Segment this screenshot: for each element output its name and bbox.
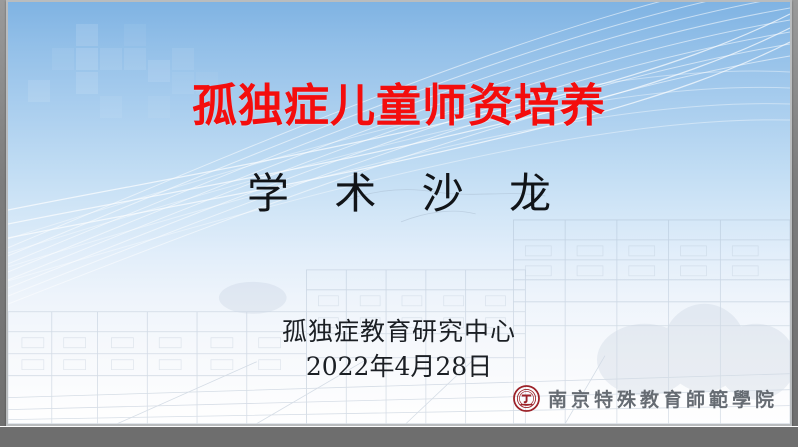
presentation-slide-viewer: 孤独症儿童师资培养 学 术 沙 龙 孤独症教育研究中心 2022年4月28日 南… — [0, 0, 798, 447]
university-name-text: 南京特殊教育師範學院 — [548, 385, 778, 412]
mosaic-square-icon — [124, 24, 146, 46]
mosaic-square-icon — [172, 48, 194, 70]
slide-title-subtitle: 学 术 沙 龙 — [8, 160, 790, 221]
mosaic-square-icon — [52, 48, 74, 70]
university-logo-lockup: 南京特殊教育師範學院 — [513, 385, 778, 412]
mosaic-square-icon — [76, 48, 98, 70]
mosaic-square-icon — [76, 24, 98, 46]
mosaic-square-icon — [100, 48, 122, 70]
slide-frame: 孤独症儿童师资培养 学 术 沙 龙 孤独症教育研究中心 2022年4月28日 南… — [6, 0, 792, 426]
slide-canvas: 孤独症儿童师资培养 学 术 沙 龙 孤独症教育研究中心 2022年4月28日 南… — [8, 2, 790, 424]
slide-title-main: 孤独症儿童师资培养 — [8, 82, 790, 129]
mosaic-square-icon — [124, 48, 146, 70]
mosaic-square-icon — [148, 60, 170, 82]
viewer-bottom-bar — [0, 426, 798, 447]
event-date: 2022年4月28日 — [8, 347, 790, 383]
nnuse-seal-emblem-icon — [513, 385, 540, 412]
organization-name: 孤独症教育研究中心 — [8, 312, 790, 348]
